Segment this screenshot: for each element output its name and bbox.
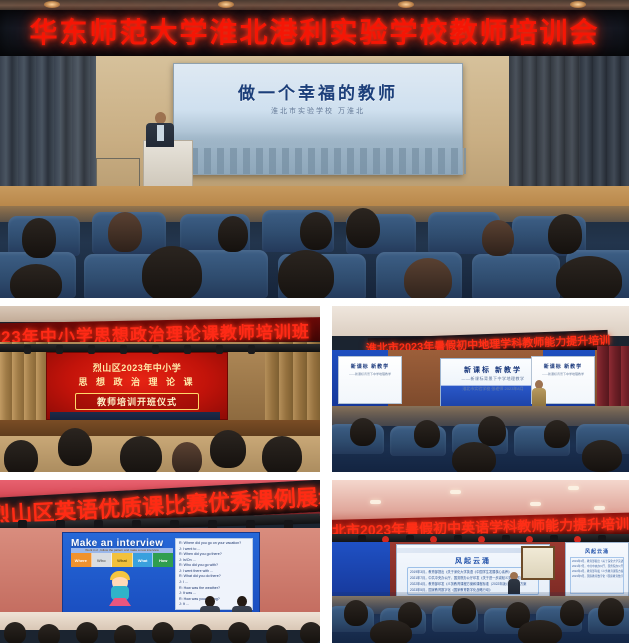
chip-what-2: What <box>133 553 154 567</box>
stage-lamp <box>56 345 63 354</box>
slide-subtitle: ——新课标背景下中学地理教学 <box>441 376 545 382</box>
audience-head <box>108 212 142 252</box>
student-head <box>4 622 26 643</box>
chip-how: How <box>153 553 173 567</box>
ceiling-light <box>594 506 605 510</box>
ceiling-light <box>398 1 414 8</box>
ceiling-light <box>568 486 579 490</box>
stage-curtain-right <box>597 346 629 412</box>
chip-who: Who <box>92 553 113 567</box>
led-presentation-screen: Make an interview Work in 2 , follow the… <box>62 532 260 616</box>
stage-lamp <box>120 345 127 354</box>
seat <box>472 254 560 298</box>
projection-screen-main: 做一个幸福的教师 淮北市实验学校 万淮北 <box>173 63 463 175</box>
slide-bullet: 2023年5月，国家教育数字化《国家教育数字化战略行动》 <box>572 574 622 578</box>
slide-title: 新课标 新教学 <box>441 365 545 375</box>
audience-head <box>346 208 380 248</box>
audience-head <box>218 216 248 252</box>
stage-lamp <box>88 345 95 354</box>
stage-lamp <box>24 345 31 354</box>
stage-lamp <box>152 345 159 354</box>
slide-subtitle: 淮北市实验学校 万淮北 <box>174 106 462 116</box>
screen-line-3: 教师培训开班仪式 <box>75 393 199 410</box>
side-slide-title: 新课标 新教学 <box>339 363 401 370</box>
side-slide-subtitle: ——新课标背景下中学地理教学 <box>532 372 594 376</box>
slide-title: 做一个幸福的教师 <box>174 79 462 104</box>
ceiling-light <box>218 1 234 8</box>
whiteboard <box>521 546 555 580</box>
audience-head <box>120 436 162 472</box>
student-head <box>228 622 250 643</box>
photo-english-teacher-training: 淮北市2023年暑假初中英语学科教师能力提升培训 风起云涌 2019年3月，教育… <box>332 480 629 643</box>
audience-head <box>300 212 332 250</box>
photo-english-quality-class: 烈山区英语优质课比赛优秀课例展示 Make an interview Work … <box>0 480 320 643</box>
ceiling-light <box>44 1 60 8</box>
audience-head <box>598 598 624 626</box>
audience-head-foreground <box>10 264 62 298</box>
audience-head <box>210 430 246 468</box>
audience-head <box>22 218 56 258</box>
presenter-person <box>532 380 546 406</box>
audience-head-foreground <box>582 440 622 472</box>
side-screen-right: 风起云涌 2019年3月，教育部提出《关于深化大学英语《中国学生发展核心素养》 … <box>565 542 629 598</box>
audience-head <box>262 436 302 472</box>
side-screen-left: 新课标 新教学 ——新课标背景下中学地理教学 <box>338 356 402 404</box>
stage-curtain-right <box>265 342 320 422</box>
student-head <box>266 625 288 643</box>
presenter-body <box>532 388 546 406</box>
slide-background-skyline <box>174 132 462 174</box>
audience-head <box>544 420 570 448</box>
slide-footer: 淮北市实验学校 张老师 2023年8月 <box>441 386 545 392</box>
audience-head <box>478 416 506 446</box>
ceiling-light <box>370 500 381 504</box>
audience-head <box>414 420 440 448</box>
stage-curtain-left <box>0 56 96 196</box>
lecturer-person <box>508 572 520 594</box>
ceiling-light <box>450 490 461 494</box>
lectern <box>143 140 193 188</box>
ceiling-light <box>530 502 541 506</box>
audience-head-foreground <box>518 620 562 643</box>
side-slide-title: 新课标 新教学 <box>532 363 594 370</box>
audience-head <box>58 428 92 466</box>
stage-lamp <box>184 345 191 354</box>
screen-line-1: 烈山区2023年中小学 <box>47 361 227 374</box>
side-wall-blue-left <box>332 542 390 596</box>
audience-head-foreground <box>142 246 202 298</box>
audience-area <box>332 406 629 472</box>
photo-main-training-assembly: 华东师范大学淮北港利实验学校教师培训会 做一个幸福的教师 淮北市实验学校 万淮北 <box>0 0 629 298</box>
stage-curtain-right <box>509 56 629 206</box>
audience-head <box>548 214 582 254</box>
photo-geography-training: 淮北市2023年暑假初中地理学科教师能力提升培训 新课标 新教学 ——新课标背景… <box>332 306 629 472</box>
audience-head-foreground <box>556 256 622 298</box>
dialogue-line: R: Where did you go on your vacation? <box>179 541 249 547</box>
students-audience <box>0 620 320 643</box>
stage-lamp <box>248 345 255 354</box>
clipart-body <box>111 586 129 600</box>
side-slide-subtitle: ——新课标背景下中学地理教学 <box>339 372 401 376</box>
slide-clipart-girl <box>103 573 137 609</box>
student-head <box>152 622 174 643</box>
ceiling-light <box>570 1 586 8</box>
screen-line-2: 思 想 政 治 理 论 课 <box>47 375 227 388</box>
speaker-shirt <box>157 125 164 141</box>
slide-bullet: 2021年7月，中共中央办公厅、国务院办公厅印发《关于进一步减轻义务教育阶段学生… <box>572 564 622 568</box>
audience-head <box>344 600 368 626</box>
chip-what-1: What <box>112 553 133 567</box>
photo-collage: 华东师范大学淮北港利实验学校教师培训会 做一个幸福的教师 淮北市实验学校 万淮北 <box>0 0 629 643</box>
audience-head-foreground <box>370 620 412 643</box>
audience-head-foreground <box>278 250 334 298</box>
student-head <box>76 622 98 643</box>
slide-bullet: 2019年3月，教育部提出《关于深化大学英语《中国学生发展核心素养》 <box>572 559 622 563</box>
audience-head <box>560 600 584 626</box>
audience-area <box>332 592 629 643</box>
slide-bullet: 2022年4月，教育部印发《义务教育课程方案和课程标准（2022年版）》等课程方… <box>572 569 622 573</box>
stage-curtain-left <box>0 342 50 422</box>
led-stage-screen: 烈山区2023年中小学 思 想 政 治 理 论 课 教师培训开班仪式 <box>46 352 228 420</box>
audience-area-main <box>0 206 629 298</box>
audience-head <box>4 440 38 472</box>
question-word-chips: Where Who What What How <box>71 553 173 567</box>
stage-lamp <box>216 345 223 354</box>
side-slide-title: 风起云涌 <box>566 548 628 555</box>
side-slide-bullet-box: 2019年3月，教育部提出《关于深化大学英语《中国学生发展核心素养》 2021年… <box>570 557 624 594</box>
led-banner-text: 华东师范大学淮北港利实验学校教师培训会 <box>29 19 599 47</box>
photo-politics-training: 2023年中小学思想政治理论课教师培训班 烈山区2023年中小学 思 想 政 治… <box>0 306 320 472</box>
chip-where: Where <box>71 553 92 567</box>
audience-head <box>452 598 476 624</box>
audience-area <box>0 426 320 472</box>
lighting-truss <box>0 344 320 352</box>
audience-head <box>482 220 514 256</box>
student-head <box>114 625 136 643</box>
audience-head <box>350 418 376 446</box>
student-head <box>300 622 320 643</box>
audience-head-foreground <box>404 258 452 298</box>
audience-head-foreground <box>452 442 496 472</box>
speaker-person <box>146 112 174 146</box>
led-banner-main: 华东师范大学淮北港利实验学校教师培训会 <box>0 10 629 56</box>
audience-head <box>172 442 202 472</box>
student-head <box>190 624 212 643</box>
student-head <box>38 624 60 643</box>
